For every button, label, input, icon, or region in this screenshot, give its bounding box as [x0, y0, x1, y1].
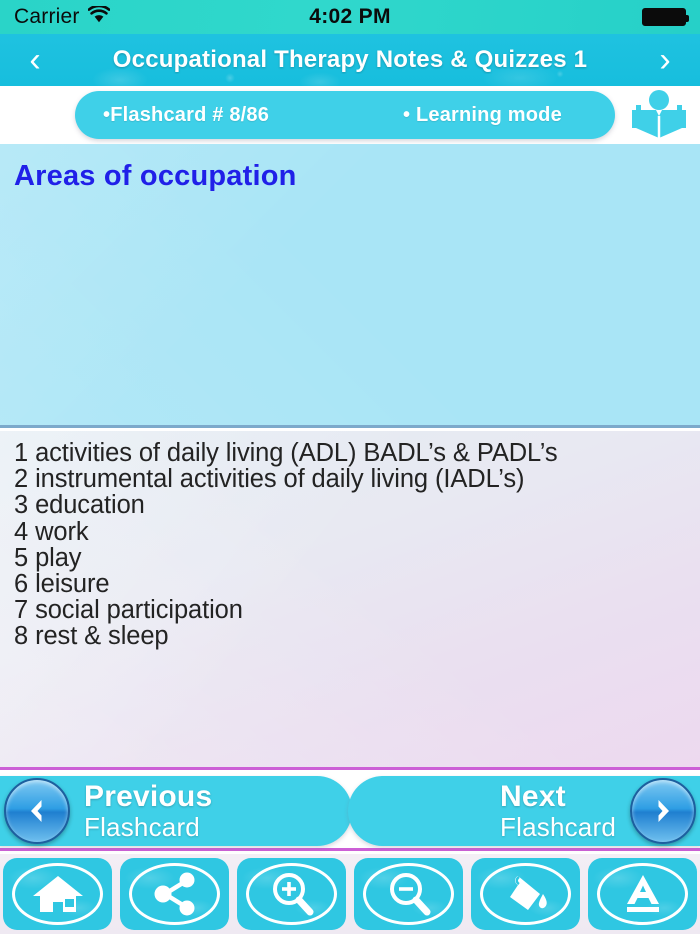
list-item: 8 rest & sleep: [14, 623, 690, 649]
list-item: 2 instrumental activities of daily livin…: [14, 466, 690, 492]
list-item: 5 play: [14, 545, 690, 571]
list-item: 6 leisure: [14, 571, 690, 597]
zoom-out-button[interactable]: [354, 858, 463, 930]
list-item: 3 education: [14, 492, 690, 518]
paint-bucket-icon: [500, 872, 552, 916]
bottom-toolbar: [0, 854, 700, 934]
zoom-out-icon: [385, 871, 433, 917]
answer-panel: 1 activities of daily living (ADL) BADL’…: [0, 431, 700, 770]
flashcard-info-row: •Flashcard # 8/86 • Learning mode: [0, 86, 700, 144]
zoom-in-button[interactable]: [237, 858, 346, 930]
next-flashcard-labels: Next Flashcard: [486, 782, 630, 840]
clock-label: 4:02 PM: [214, 5, 486, 29]
app-screen: Carrier 4:02 PM ‹ Occupational Therapy N…: [0, 0, 700, 934]
learning-mode-label: • Learning mode: [403, 104, 562, 127]
previous-sublabel: Flashcard: [84, 814, 212, 840]
home-button[interactable]: [3, 858, 112, 930]
zoom-in-icon: [268, 871, 316, 917]
list-item: 1 activities of daily living (ADL) BADL’…: [14, 440, 690, 466]
status-bar-right: [486, 8, 686, 26]
next-sublabel: Flashcard: [500, 814, 616, 840]
next-flashcard-button[interactable]: Next Flashcard: [348, 776, 700, 846]
status-bar: Carrier 4:02 PM: [0, 0, 700, 34]
question-text: Areas of occupation: [14, 160, 686, 193]
next-label: Next: [500, 782, 616, 812]
header-forward-button[interactable]: ›: [648, 43, 682, 77]
font-a-icon: [619, 871, 667, 917]
flashcard-status-pill: •Flashcard # 8/86 • Learning mode: [75, 91, 615, 139]
previous-label: Previous: [84, 782, 212, 812]
flashcard-nav-bar: Previous Flashcard Next Flashcard: [0, 773, 700, 851]
page-title: Occupational Therapy Notes & Quizzes 1: [52, 46, 648, 74]
question-panel: Areas of occupation: [0, 144, 700, 428]
wifi-icon: [88, 6, 110, 28]
share-button[interactable]: [120, 858, 229, 930]
header-back-button[interactable]: ‹: [18, 43, 52, 77]
home-icon: [32, 872, 84, 916]
answer-list: 1 activities of daily living (ADL) BADL’…: [14, 440, 690, 650]
app-header: ‹ Occupational Therapy Notes & Quizzes 1…: [0, 34, 700, 86]
theme-color-button[interactable]: [471, 858, 580, 930]
carrier-label: Carrier: [14, 5, 80, 29]
flashcard-counter-label: •Flashcard # 8/86: [103, 104, 403, 127]
previous-flashcard-labels: Previous Flashcard: [70, 782, 226, 840]
previous-flashcard-button[interactable]: Previous Flashcard: [0, 776, 352, 846]
font-button[interactable]: [588, 858, 697, 930]
chevron-right-circle-icon: [630, 778, 696, 844]
person-reading-book-icon[interactable]: [628, 88, 690, 142]
list-item: 7 social participation: [14, 597, 690, 623]
status-bar-left: Carrier: [14, 5, 214, 29]
chevron-left-circle-icon: [4, 778, 70, 844]
share-icon: [151, 872, 199, 916]
battery-full-icon: [642, 8, 686, 26]
list-item: 4 work: [14, 519, 690, 545]
